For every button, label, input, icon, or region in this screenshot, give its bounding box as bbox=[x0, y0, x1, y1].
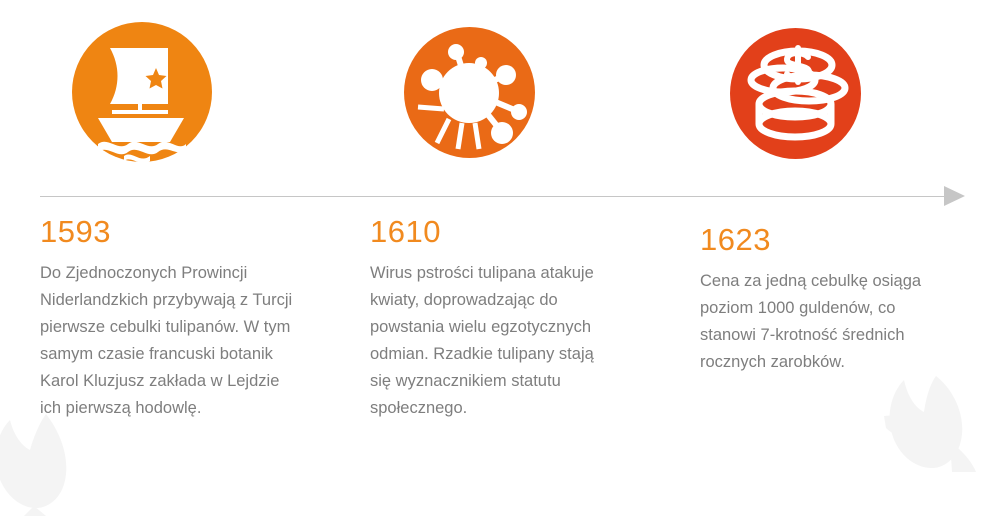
entry-description: Cena za jedną cebulkę osiąga poziom 1000… bbox=[700, 268, 945, 376]
ship-with-crescent-star-sail-icon bbox=[72, 22, 212, 162]
timeline-entry-1623: 1623 Cena za jedną cebulkę osiąga poziom… bbox=[700, 213, 945, 376]
arrow-right-icon bbox=[944, 186, 965, 206]
tulip-watermark-left bbox=[0, 406, 114, 516]
tulip-watermark-right bbox=[884, 372, 992, 472]
timeline-entry-1610: 1610 Wirus pstrości tulipana atakuje kwi… bbox=[370, 213, 610, 422]
entry-year: 1593 bbox=[40, 213, 295, 251]
timeline-infographic: 1593 Do Zjednoczonych Prowincji Niderlan… bbox=[0, 0, 992, 469]
virus-icon bbox=[404, 27, 535, 158]
entry-description: Wirus pstrości tulipana atakuje kwiaty, … bbox=[370, 260, 610, 422]
icon-row bbox=[0, 0, 992, 185]
timeline-line bbox=[40, 196, 948, 197]
coin-stack-dollar-icon bbox=[730, 28, 861, 159]
entry-description: Do Zjednoczonych Prowincji Niderlandzkic… bbox=[40, 260, 295, 422]
timeline-entry-1593: 1593 Do Zjednoczonych Prowincji Niderlan… bbox=[40, 213, 295, 422]
entry-year: 1610 bbox=[370, 213, 610, 251]
entry-year: 1623 bbox=[700, 221, 945, 259]
